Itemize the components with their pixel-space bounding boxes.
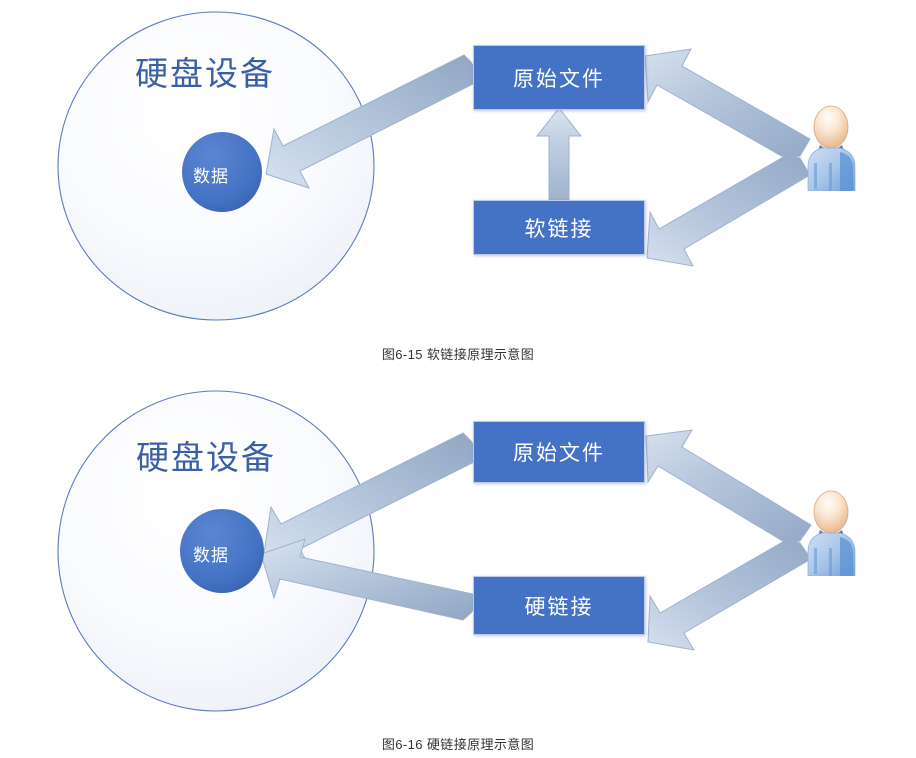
node-box-original-file[interactable]: 原始文件 [473, 45, 645, 110]
node-box-soft-link-label: 软链接 [525, 213, 594, 243]
arrow-user-to-soft-link [647, 156, 810, 266]
diagram-hard-link: 硬盘设备 数据 原始文件 硬链接 [0, 379, 916, 709]
node-box-original-file-label: 原始文件 [513, 437, 605, 467]
node-box-original-file[interactable]: 原始文件 [473, 421, 645, 483]
disk-title: 硬盘设备 [136, 431, 276, 479]
figure-caption-hard-link: 图6-16 硬链接原理示意图 [0, 734, 916, 753]
diagram-hard-link-graphics [0, 379, 916, 709]
person-icon-graphics [800, 105, 862, 191]
data-circle-label: 数据 [193, 541, 229, 566]
node-box-original-file-label: 原始文件 [513, 63, 605, 93]
person-icon [800, 490, 862, 576]
data-circle-label: 数据 [193, 162, 229, 187]
figure-soft-link: 硬盘设备 数据 原始文件 软链接 [0, 0, 916, 379]
disk-title: 硬盘设备 [135, 47, 275, 95]
figure-caption-soft-link: 图6-15 软链接原理示意图 [0, 344, 916, 363]
node-box-hard-link[interactable]: 硬链接 [473, 576, 645, 635]
arrow-user-to-original-file [646, 430, 811, 543]
node-box-soft-link[interactable]: 软链接 [473, 200, 645, 255]
person-icon-graphics [800, 490, 862, 576]
arrow-user-to-original-file [645, 49, 810, 158]
person-icon [800, 105, 862, 191]
node-box-hard-link-label: 硬链接 [525, 591, 594, 621]
arrow-user-to-hard-link [648, 540, 811, 650]
arrow-soft-link-to-original-file [537, 108, 581, 201]
diagram-soft-link: 硬盘设备 数据 原始文件 软链接 [0, 0, 916, 330]
figure-hard-link: 硬盘设备 数据 原始文件 硬链接 [0, 379, 916, 758]
